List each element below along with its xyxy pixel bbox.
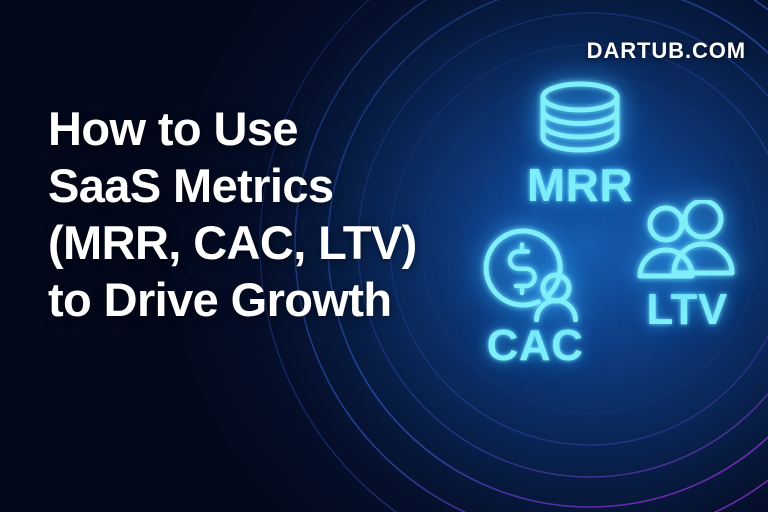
metric-mrr: MRR bbox=[500, 80, 660, 208]
title-line-4: to Drive Growth bbox=[48, 271, 448, 328]
title-line-1: How to Use bbox=[48, 100, 448, 157]
page-title: How to Use SaaS Metrics (MRR, CAC, LTV) … bbox=[48, 100, 448, 328]
metrics-graphic: MRR CAC LTV bbox=[400, 0, 768, 512]
metric-ltv-label: LTV bbox=[612, 288, 762, 332]
metric-ltv: LTV bbox=[612, 200, 762, 332]
users-group-icon bbox=[632, 200, 742, 284]
title-line-2: SaaS Metrics bbox=[48, 157, 448, 214]
metric-cac: CAC bbox=[455, 222, 615, 368]
brand-watermark: DARTUB.COM bbox=[587, 38, 746, 64]
thumbnail-canvas: DARTUB.COM How to Use SaaS Metrics (MRR,… bbox=[0, 0, 768, 512]
database-icon bbox=[532, 80, 628, 156]
dollar-circle-user-icon bbox=[477, 222, 593, 322]
metric-cac-label: CAC bbox=[455, 324, 615, 368]
title-line-3: (MRR, CAC, LTV) bbox=[48, 214, 448, 271]
